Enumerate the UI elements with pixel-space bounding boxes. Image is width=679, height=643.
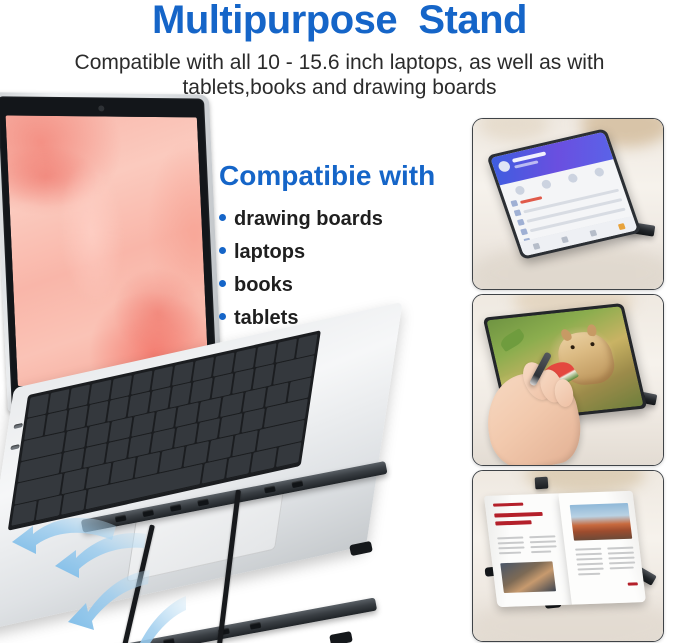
app-icon [567, 173, 579, 184]
nav-icon [560, 236, 568, 243]
squirrel-ear [588, 324, 597, 337]
list-item-label: tablets [234, 307, 298, 330]
scene-tablet-app [473, 119, 663, 289]
magazine-right-page [558, 491, 646, 605]
photo-panel-book-holder [472, 470, 664, 642]
list-item: tablets [219, 307, 459, 340]
list-item: books [219, 274, 459, 307]
leaf [498, 328, 527, 352]
stand-foot [329, 631, 353, 643]
photo-panel-drawing-tablet [472, 294, 664, 466]
airflow-arrow-3 [68, 570, 150, 630]
app-icon [541, 179, 553, 190]
open-magazine [484, 491, 646, 607]
airflow-arrow-4 [116, 596, 186, 643]
webcam-icon [99, 106, 103, 110]
list-item-label: drawing boards [234, 208, 383, 231]
list-item-label: books [234, 274, 293, 297]
compatibility-list: drawing boards laptops books tablets [219, 208, 459, 340]
bullet-icon [219, 247, 226, 254]
magazine-left-page [484, 493, 572, 607]
app-icon [514, 185, 526, 196]
avatar [497, 160, 511, 173]
list-item: laptops [219, 241, 459, 274]
product-marketing-image: Multipurpose Stand Compatible with all 1… [0, 0, 679, 643]
compatibility-heading: Compatibie with [219, 160, 435, 192]
list-item-label: laptops [234, 241, 305, 264]
bullet-icon [219, 214, 226, 221]
laptop-screen [6, 115, 210, 388]
scene-drawing [473, 295, 663, 465]
app-icon [593, 167, 605, 178]
list-item: drawing boards [219, 208, 459, 241]
photo-panel-tablet-app [472, 118, 664, 290]
airflow-arrow-2 [55, 533, 146, 578]
page-clip [535, 477, 549, 490]
page-title: Multipurpose Stand [0, 0, 679, 43]
bullet-icon [219, 313, 226, 320]
nav-icon [617, 223, 625, 230]
magazine-photo [500, 561, 556, 593]
bullet-icon [219, 280, 226, 287]
airflow-arrows [0, 418, 260, 643]
wallpaper-swirl [6, 131, 210, 383]
magazine-photo [570, 503, 633, 541]
nav-icon [532, 243, 540, 250]
nav-icon [589, 229, 597, 236]
scene-magazine [473, 471, 663, 641]
